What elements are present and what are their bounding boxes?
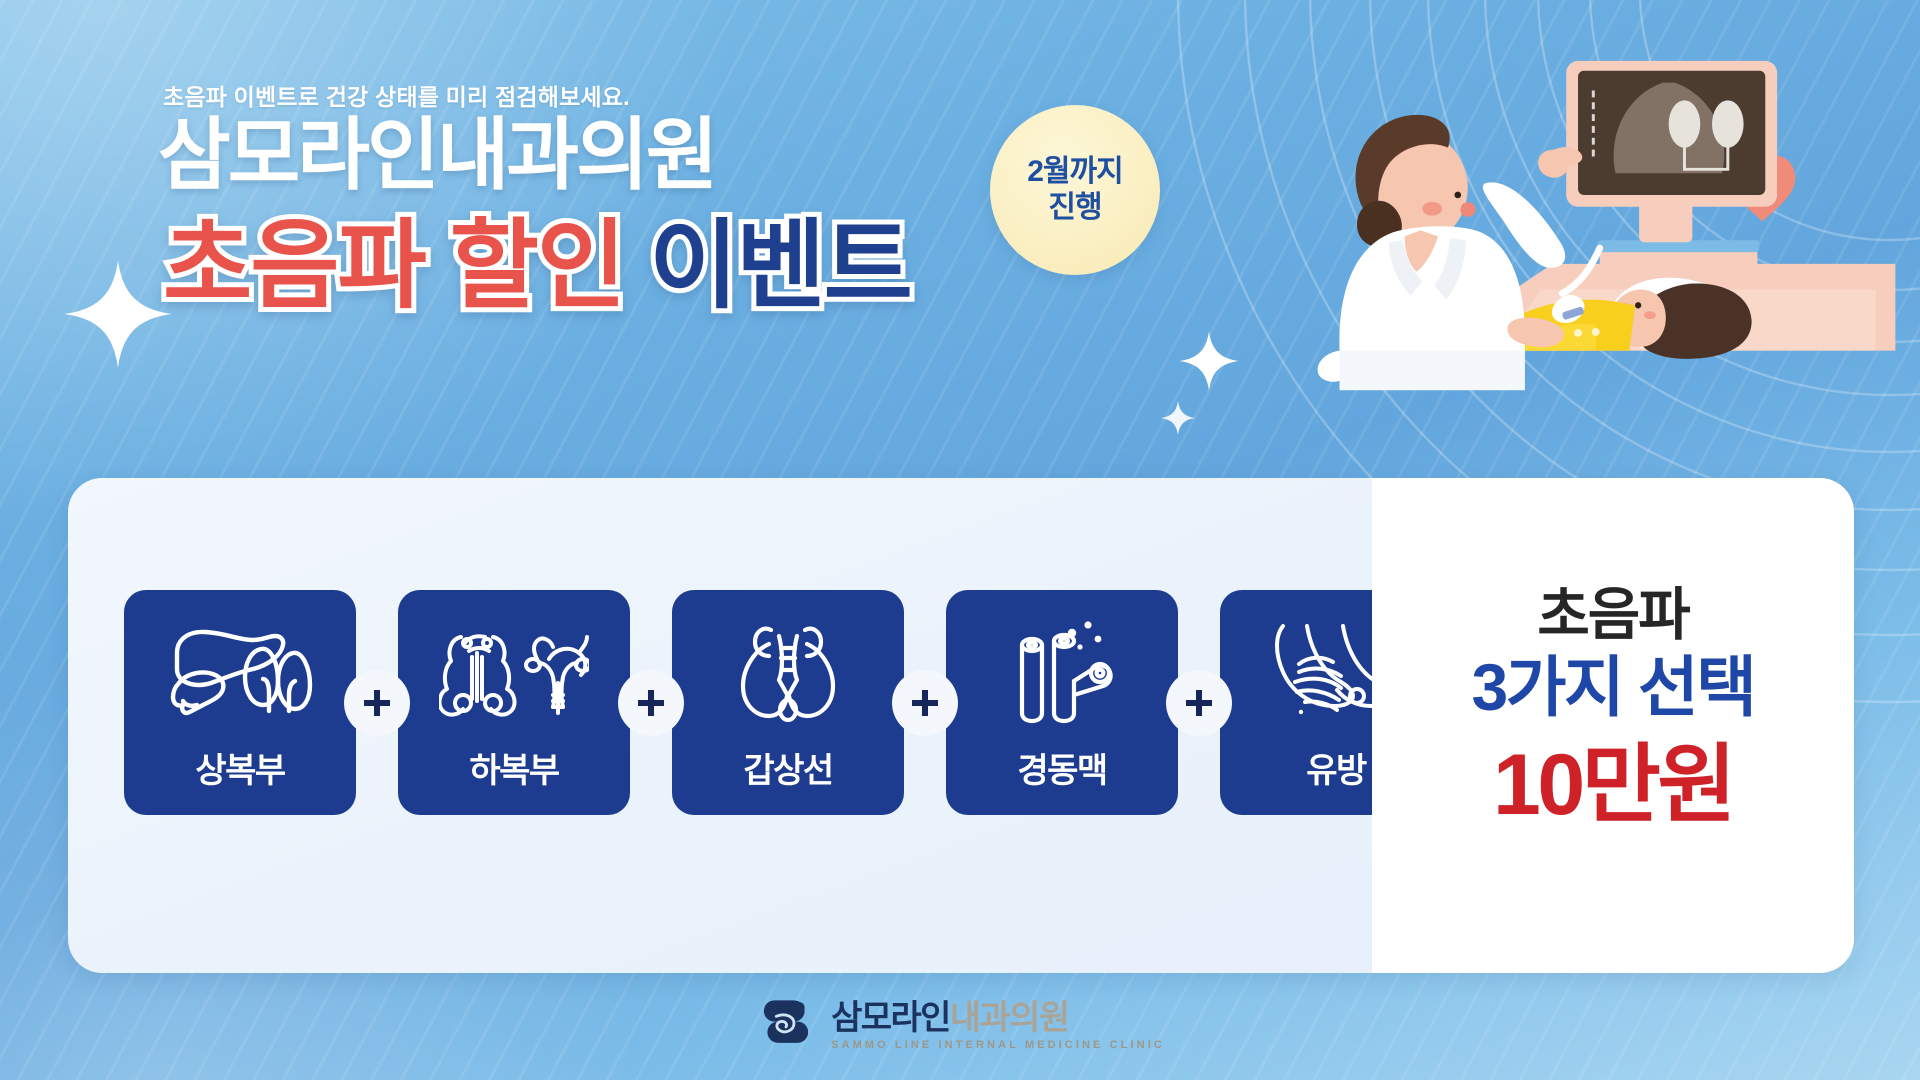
plus-separator xyxy=(1166,670,1232,736)
footer-logo: 삼모라인내과의원 SAMMO LINE INTERNAL MEDICINE CL… xyxy=(0,995,1920,1057)
carotid-artery-icon xyxy=(1006,590,1118,743)
main-content-panel: 상복부 xyxy=(68,478,1854,973)
liver-pancreas-kidney-icon xyxy=(167,590,313,743)
price-panel: 초음파 3가지 선택 10만원 xyxy=(1372,478,1854,973)
exam-card-list: 상복부 xyxy=(124,590,1452,815)
price-amount: 10만원 xyxy=(1372,738,1854,833)
banner-subtitle: 초음파 이벤트로 건강 상태를 미리 점검해보세요. xyxy=(163,78,630,112)
exam-options-panel: 상복부 xyxy=(68,478,1372,973)
badge-line-1: 2월까지 xyxy=(1027,155,1123,189)
footer-name-english: SAMMO LINE INTERNAL MEDICINE CLINIC xyxy=(831,1040,1165,1051)
doctor-ultrasound-illustration xyxy=(1240,55,1920,395)
footer-name-secondary: 내과의원 xyxy=(950,999,1069,1037)
exam-card-upper-abdomen[interactable]: 상복부 xyxy=(124,590,356,815)
exam-card-thyroid[interactable]: 갑상선 xyxy=(672,590,904,815)
page-title: 초음파 할인 이벤트 xyxy=(163,213,911,320)
plus-icon xyxy=(1184,688,1214,718)
plus-icon xyxy=(636,688,666,718)
promo-period-badge: 2월까지 진행 xyxy=(990,105,1160,275)
exam-card-label: 갑상선 xyxy=(743,743,832,792)
prostate-uterus-icon xyxy=(439,590,589,743)
sparkle-star-icon xyxy=(1160,400,1196,436)
headline-discount-text: 초음파 할인 xyxy=(163,211,649,320)
plus-icon xyxy=(362,688,392,718)
price-block: 초음파 3가지 선택 10만원 xyxy=(1372,586,1854,832)
clinic-cross-logo-icon xyxy=(755,995,817,1057)
thyroid-icon xyxy=(733,590,843,743)
plus-icon xyxy=(910,688,940,718)
sparkle-star-icon xyxy=(62,258,174,370)
price-heading: 초음파 xyxy=(1372,586,1854,646)
badge-line-2: 진행 xyxy=(1048,191,1101,225)
exam-card-label: 상복부 xyxy=(195,743,284,792)
exam-card-carotid-artery[interactable]: 경동맥 xyxy=(946,590,1178,815)
exam-card-lower-abdomen[interactable]: 하복부 xyxy=(398,590,630,815)
footer-name-primary: 삼모라인 xyxy=(831,999,950,1037)
banner-canvas: 초음파 이벤트로 건강 상태를 미리 점검해보세요. 삼모라인내과의원 초음파 … xyxy=(0,0,1920,1080)
exam-card-label: 경동맥 xyxy=(1017,743,1106,792)
footer-wordmark: 삼모라인내과의원 SAMMO LINE INTERNAL MEDICINE CL… xyxy=(831,1001,1165,1051)
clinic-name-title: 삼모라인내과의원 xyxy=(158,115,715,194)
sparkle-star-icon xyxy=(1178,330,1240,392)
exam-card-label: 하복부 xyxy=(469,743,558,792)
plus-separator xyxy=(892,670,958,736)
plus-separator xyxy=(618,670,684,736)
price-selection-count: 3가지 선택 xyxy=(1372,650,1854,726)
headline-event-text: 이벤트 xyxy=(649,211,911,320)
plus-separator xyxy=(344,670,410,736)
exam-card-label: 유방 xyxy=(1306,743,1366,792)
